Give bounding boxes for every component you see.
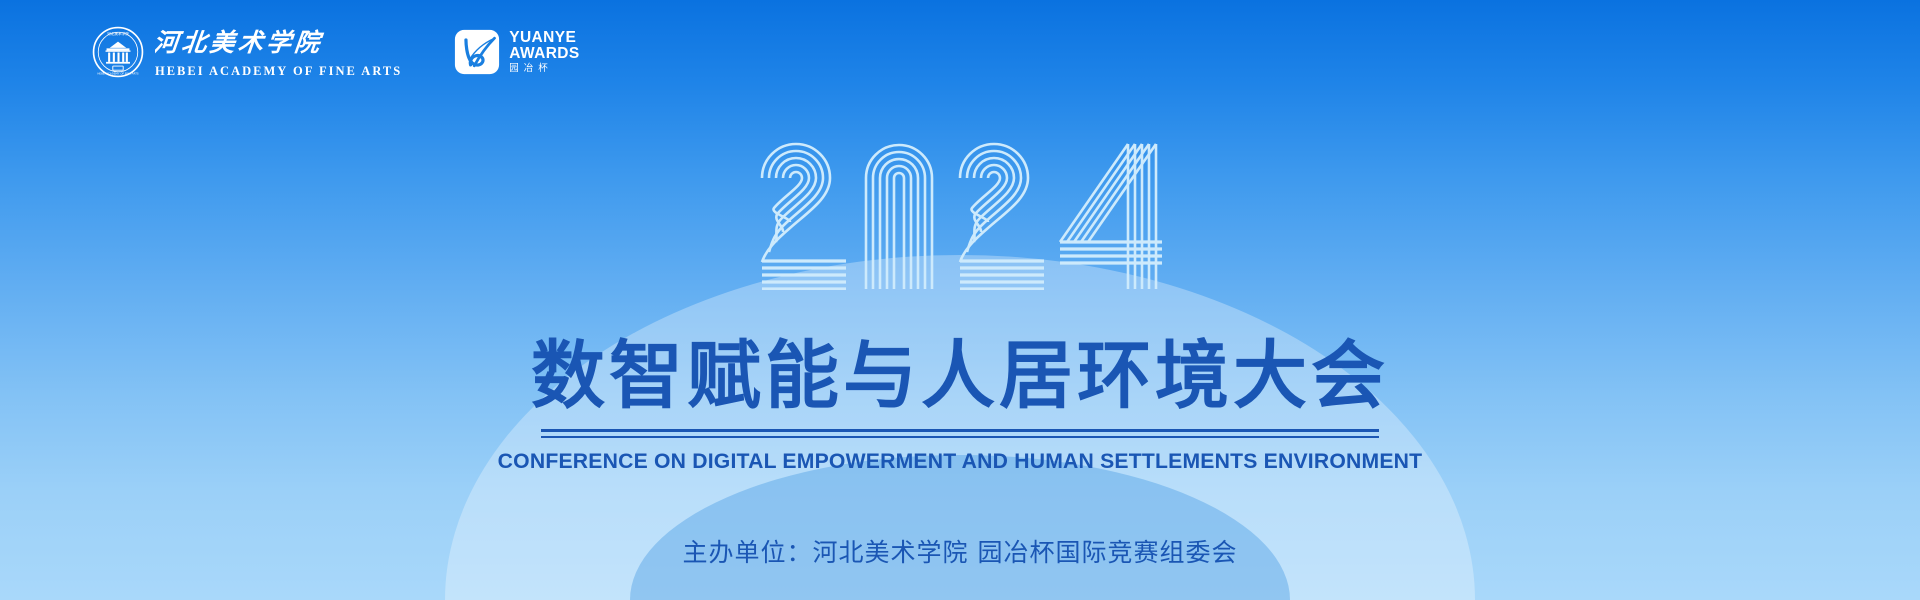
divider-line-top: [541, 429, 1379, 432]
year-2024-graphic: [750, 130, 1170, 290]
hebei-academy-name-cn: 河北美术学院: [155, 26, 402, 62]
logo-row: 河北美术学院 HEBEI ACADEMY OF FINE ARTS 河北美术学院…: [92, 26, 580, 78]
hebei-academy-name-en: HEBEI ACADEMY OF FINE ARTS: [155, 65, 402, 78]
yuanye-wordmark: YUANYE AWARDS 园冶杯: [509, 30, 579, 73]
yuanye-leaf-mark-icon: [454, 29, 500, 75]
divider-line-bottom: [541, 436, 1379, 438]
title-block: 数智赋能与人居环境大会 CONFERENCE ON DIGITAL EMPOWE…: [0, 338, 1920, 474]
digit-2-a: [762, 144, 830, 262]
title-divider: [541, 429, 1379, 438]
svg-text:HEBEI ACADEMY OF FINE ARTS: HEBEI ACADEMY OF FINE ARTS: [97, 71, 139, 75]
digit-4: [1060, 144, 1156, 289]
svg-text:河北美术学院: 河北美术学院: [155, 28, 325, 57]
yuanye-line-2: AWARDS: [509, 46, 579, 62]
hebei-academy-seal-icon: 河北美术学院 HEBEI ACADEMY OF FINE ARTS: [92, 26, 144, 78]
organizer-text: 主办单位：河北美术学院 园冶杯国际竞赛组委会: [0, 533, 1920, 569]
subtitle-en: CONFERENCE ON DIGITAL EMPOWERMENT AND HU…: [14, 449, 1905, 474]
logo-yuanye-awards[interactable]: YUANYE AWARDS 园冶杯: [454, 29, 579, 75]
svg-text:河北美术学院: 河北美术学院: [107, 31, 129, 36]
logo-hebei-academy[interactable]: 河北美术学院 HEBEI ACADEMY OF FINE ARTS 河北美术学院…: [92, 26, 402, 78]
conference-banner: 河北美术学院 HEBEI ACADEMY OF FINE ARTS 河北美术学院…: [0, 0, 1920, 600]
yuanye-name-cn: 园冶杯: [509, 64, 579, 74]
digit-2-b: [960, 144, 1028, 262]
digit-0: [866, 145, 932, 289]
main-title-cn: 数智赋能与人居环境大会: [0, 338, 1920, 416]
inner-dome-decoration: [630, 455, 1290, 600]
hebei-academy-wordmark: 河北美术学院 HEBEI ACADEMY OF FINE ARTS: [155, 26, 402, 78]
yuanye-line-1: YUANYE: [509, 30, 579, 46]
